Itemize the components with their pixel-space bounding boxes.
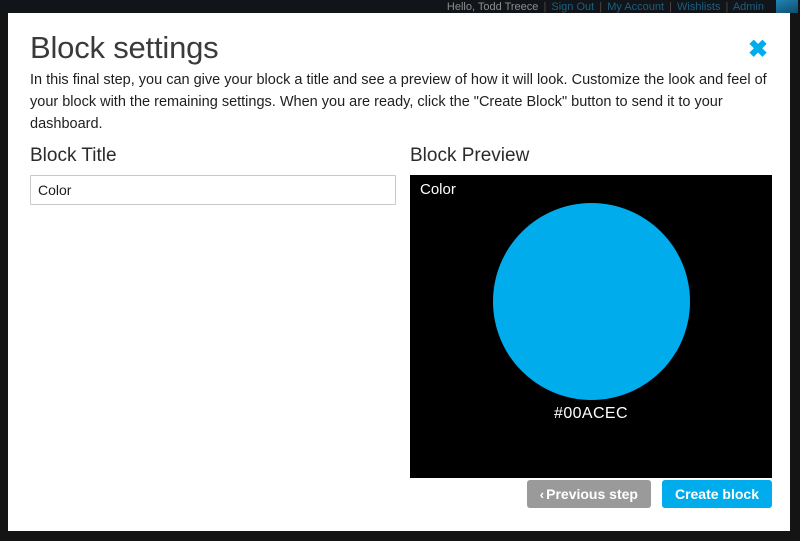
modal-description: In this final step, you can give your bl… xyxy=(30,69,770,135)
block-preview-section: Block Preview Color #00ACEC xyxy=(410,145,774,478)
preview-block-title: Color xyxy=(420,181,456,198)
create-block-button[interactable]: Create block xyxy=(662,480,772,508)
create-block-label: Create block xyxy=(675,486,759,502)
nav-link-my-account[interactable]: My Account xyxy=(607,1,664,13)
background-top-nav: Hello, Todd Treece | Sign Out | My Accou… xyxy=(0,0,800,14)
nav-link-sign-out[interactable]: Sign Out xyxy=(551,1,594,13)
nav-link-admin[interactable]: Admin xyxy=(733,1,764,13)
background-accent-tab xyxy=(776,0,798,13)
block-preview-label: Block Preview xyxy=(410,145,774,167)
color-swatch-circle xyxy=(493,203,690,400)
previous-step-label: Previous step xyxy=(546,486,638,502)
block-title-input[interactable] xyxy=(30,175,396,205)
block-preview-panel: Color #00ACEC xyxy=(410,175,772,478)
nav-separator-4: | xyxy=(724,1,731,13)
nav-separator-2: | xyxy=(597,1,604,13)
nav-separator-3: | xyxy=(667,1,674,13)
nav-link-wishlists[interactable]: Wishlists xyxy=(677,1,720,13)
close-icon[interactable]: ✖ xyxy=(745,37,771,63)
preview-hex-value: #00ACEC xyxy=(410,405,772,423)
block-settings-modal: ✖ Block settings In this final step, you… xyxy=(8,13,790,531)
nav-separator-1: | xyxy=(541,1,548,13)
nav-greeting: Hello, Todd Treece xyxy=(447,1,539,13)
previous-step-button[interactable]: ‹Previous step xyxy=(527,480,651,508)
modal-footer: ‹Previous step Create block xyxy=(527,480,772,508)
block-title-section: Block Title xyxy=(30,145,402,205)
block-title-label: Block Title xyxy=(30,145,402,167)
page-title: Block settings xyxy=(30,30,218,66)
